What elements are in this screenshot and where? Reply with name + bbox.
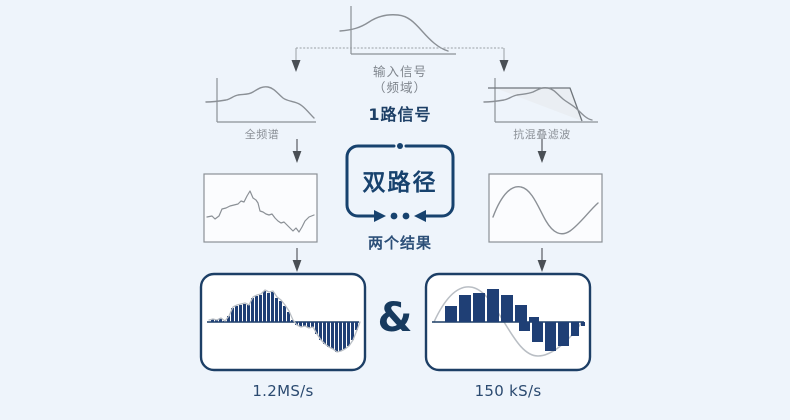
input-caption-line2: （频域） bbox=[330, 80, 470, 96]
dot-icon bbox=[397, 143, 403, 149]
arrow-down-icon bbox=[538, 151, 547, 163]
anti-alias-chart bbox=[482, 76, 602, 130]
left-arrow-to-stage2 bbox=[289, 139, 305, 165]
right-rate-label: 150 kS/s bbox=[424, 382, 592, 400]
dual-path-label: 双路径 bbox=[344, 163, 456, 197]
anti-alias-filter-curve-icon bbox=[482, 76, 602, 130]
right-arrow-to-stage2 bbox=[534, 139, 550, 165]
noisy-waveform-chart bbox=[203, 173, 318, 247]
full-spectrum-chart bbox=[204, 76, 320, 130]
arrow-left-icon bbox=[414, 210, 426, 222]
ampersand-symbol: & bbox=[372, 298, 418, 338]
left-arrow-to-result bbox=[289, 248, 305, 274]
diagram-canvas: 输入信号 （频域） 1路信号 全频谱 bbox=[0, 0, 790, 420]
sine-wave-chart bbox=[488, 173, 603, 247]
arrow-down-icon bbox=[293, 151, 302, 163]
arrow-down-icon bbox=[292, 60, 301, 72]
right-result-panel bbox=[424, 272, 592, 372]
two-results-label: 两个结果 bbox=[340, 232, 460, 253]
arrow-down-icon bbox=[538, 260, 547, 272]
input-channels-label: 1路信号 bbox=[330, 101, 470, 125]
arrow-down-icon bbox=[293, 260, 302, 272]
dot-icon bbox=[391, 213, 398, 220]
left-rate-label: 1.2MS/s bbox=[199, 382, 367, 400]
input-caption: 输入信号 （频域） bbox=[330, 64, 470, 96]
left-result-panel bbox=[199, 272, 367, 372]
dense-bar-waveform-icon bbox=[199, 272, 367, 372]
sparse-bar-sine-icon bbox=[424, 272, 592, 372]
right-arrow-to-result bbox=[534, 248, 550, 274]
arrow-down-icon bbox=[500, 60, 509, 72]
dual-path-badge: 双路径 bbox=[344, 143, 456, 227]
input-caption-line1: 输入信号 bbox=[330, 64, 470, 80]
sine-wave-icon bbox=[488, 173, 603, 243]
arrow-right-icon bbox=[374, 210, 386, 222]
noisy-waveform-icon bbox=[203, 173, 318, 243]
dot-icon bbox=[403, 213, 410, 220]
full-spectrum-curve-icon bbox=[204, 76, 320, 130]
